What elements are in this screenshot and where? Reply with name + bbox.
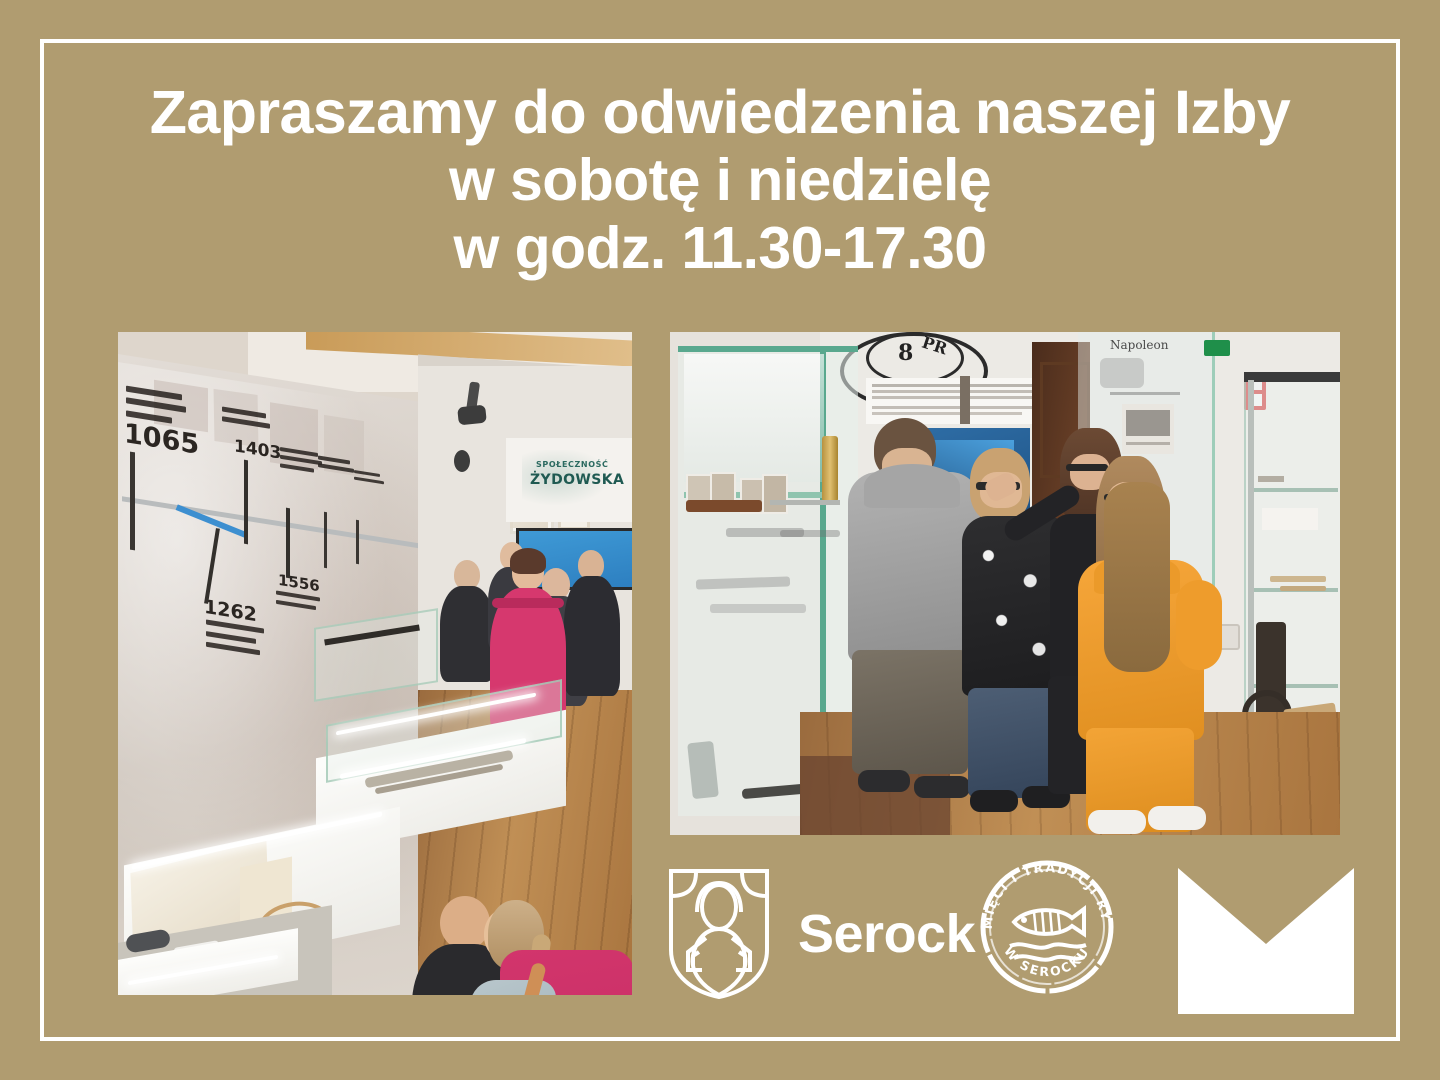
- headline-line-3: w godz. 11.30-17.30: [70, 214, 1370, 282]
- headline-line-1: Zapraszamy do odwiedzenia naszej Izby: [70, 78, 1370, 146]
- logo-serock[interactable]: Serock: [666, 866, 975, 1002]
- serock-wordmark: Serock: [798, 907, 975, 961]
- photo-museum-showcase: Grupa młodzieży ogląda gablotę z ekspona…: [670, 332, 1340, 835]
- headline-line-2: w sobotę i niedzielę: [70, 146, 1370, 214]
- poster-canvas: Zapraszamy do odwiedzenia naszej Izby w …: [0, 0, 1440, 1080]
- logo-row: Serock IZBA PAMIĘCI: [666, 852, 1356, 1022]
- fish-seal-icon: IZBA PAMIĘCI I TRADYCJI RYBACKICH W SERO…: [974, 854, 1120, 1000]
- logo-mazovia-mark[interactable]: [1178, 868, 1354, 1019]
- m-envelope-mark-icon: [1178, 868, 1354, 1014]
- photo-museum-timeline: Zwiedzający oglądają gabloty z eksponata…: [118, 332, 632, 995]
- page-title: Zapraszamy do odwiedzenia naszej Izby w …: [70, 78, 1370, 282]
- serock-coat-of-arms-icon: [666, 866, 772, 1002]
